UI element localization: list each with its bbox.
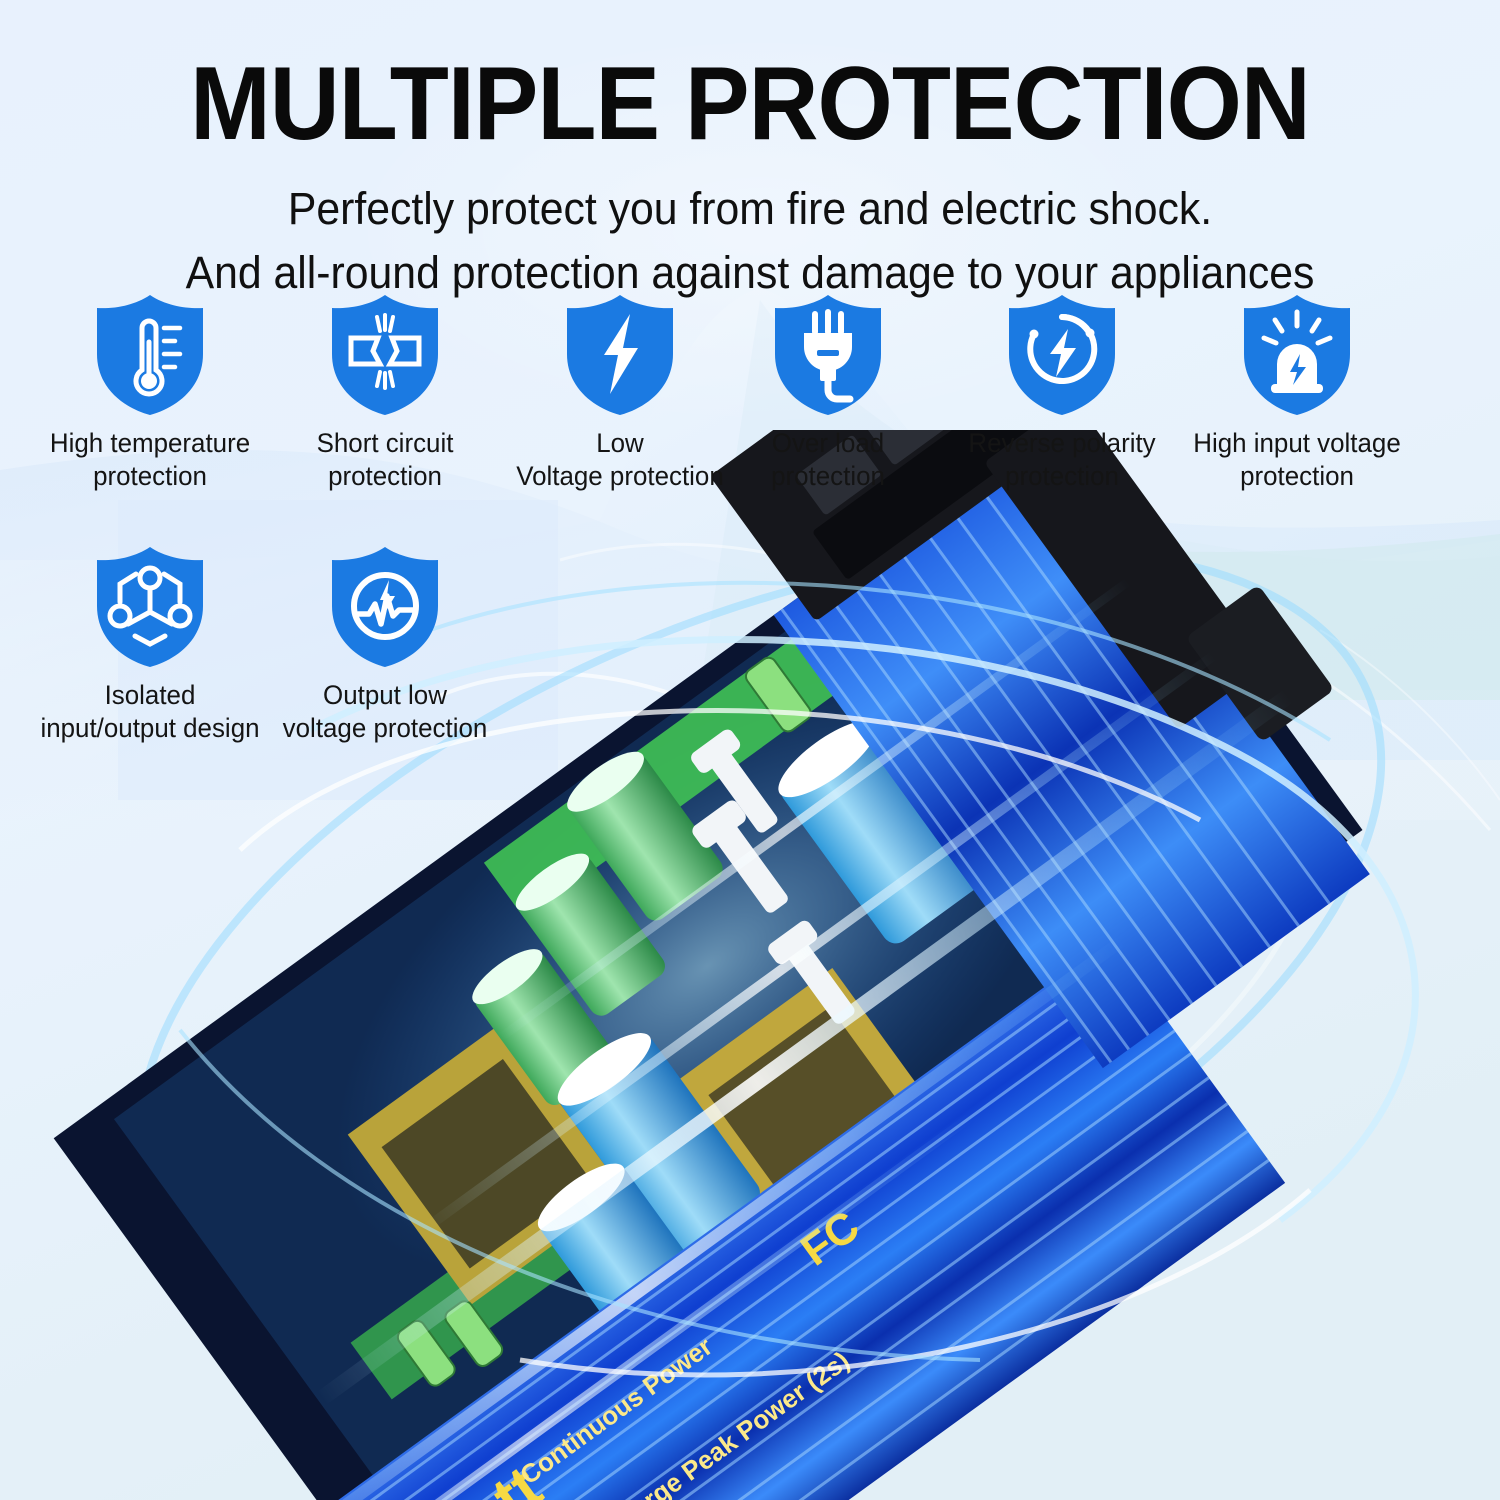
protection-label: Isolated input/output design (35, 679, 265, 745)
thermometer-icon (90, 292, 210, 418)
protection-item-isolated-design: Isolated input/output design (30, 544, 270, 745)
power-plug-icon (768, 292, 888, 418)
lightning-bolt-icon (560, 292, 680, 418)
protection-item-low-voltage: Low Voltage protection (500, 292, 740, 493)
protection-item-over-load: Over load protection (708, 292, 948, 493)
protection-item-high-temperature: High temperature protection (30, 292, 270, 493)
protection-item-reverse-polarity: Reverse polarity protection (942, 292, 1182, 493)
protection-label: Reverse polarity protection (947, 427, 1177, 493)
protection-item-output-low-voltage: Output low voltage protection (265, 544, 505, 745)
header: MULTIPLE PROTECTION Perfectly protect yo… (0, 0, 1500, 301)
protection-label: Output low voltage protection (270, 679, 500, 745)
page-title: MULTIPLE PROTECTION (53, 0, 1448, 156)
protection-label: Short circuit protection (270, 427, 500, 493)
protection-label: Low Voltage protection (505, 427, 735, 493)
polarity-reverse-icon (1002, 292, 1122, 418)
protection-item-high-input-voltage: High input voltage protection (1177, 292, 1417, 493)
protection-feature-grid: High temperature protection (0, 292, 1500, 764)
broken-wire-icon (325, 292, 445, 418)
subtitle-line-1: Perfectly protect you from fire and elec… (38, 180, 1463, 238)
protection-label: High input voltage protection (1182, 427, 1412, 493)
protection-item-short-circuit: Short circuit protection (265, 292, 505, 493)
isolation-network-icon (90, 544, 210, 670)
protection-row-1: High temperature protection (0, 292, 1500, 544)
protection-row-2: Isolated input/output design Output low … (0, 544, 1500, 764)
alarm-siren-icon (1237, 292, 1357, 418)
waveform-circle-icon (325, 544, 445, 670)
protection-label: High temperature protection (35, 427, 265, 493)
protection-label: Over load protection (713, 427, 943, 493)
